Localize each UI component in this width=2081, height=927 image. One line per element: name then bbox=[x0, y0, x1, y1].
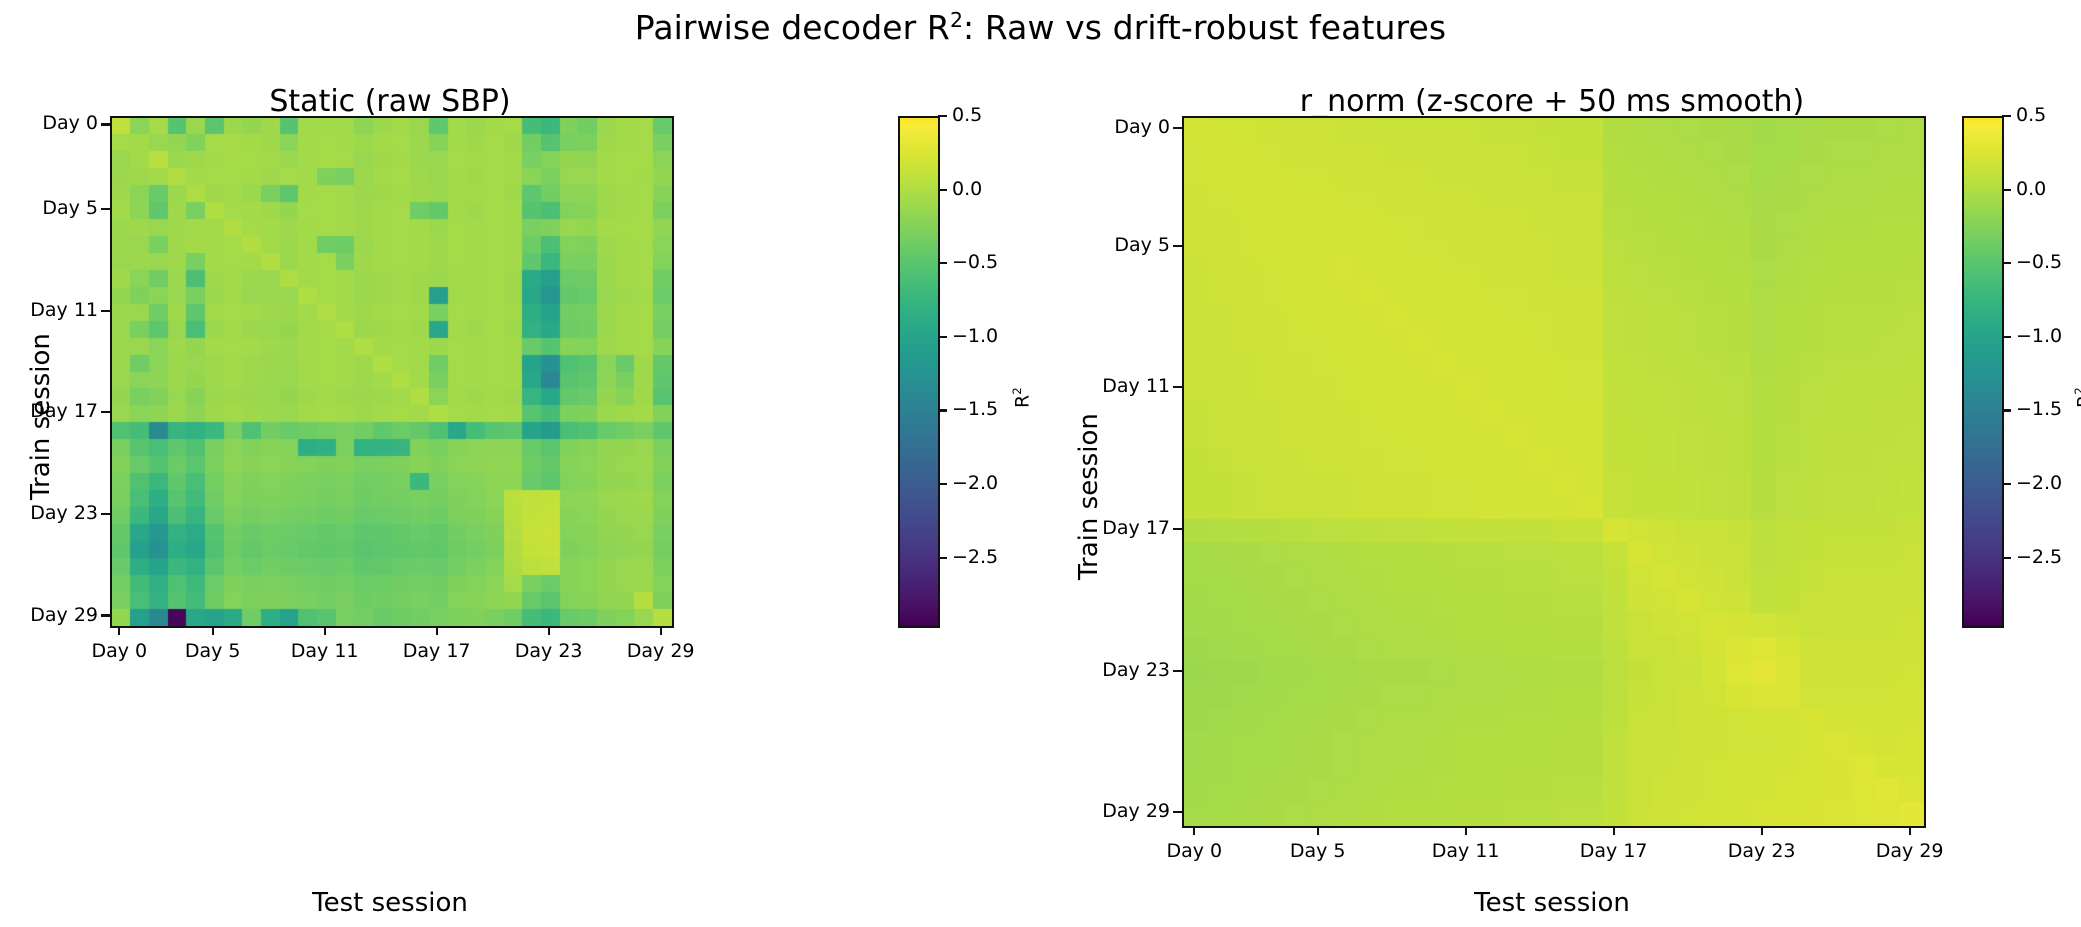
panel-0-heatmap-axes[interactable] bbox=[110, 116, 674, 628]
y-tick-mark bbox=[101, 411, 110, 413]
x-tick-mark bbox=[548, 626, 550, 635]
y-tick-label: Day 5 bbox=[982, 234, 1170, 256]
colorbar-tick-label: 0.0 bbox=[2016, 178, 2081, 200]
panel-1-colorbar-gradient bbox=[1964, 118, 2002, 626]
x-tick-mark bbox=[1193, 826, 1195, 835]
panel-1-heatmap-image bbox=[1184, 118, 1924, 826]
x-tick-mark bbox=[436, 626, 438, 635]
figure-canvas: Pairwise decoder R2: Raw vs drift-robust… bbox=[0, 0, 2081, 927]
y-tick-mark bbox=[1173, 670, 1182, 672]
colorbar-tick-label: −1.0 bbox=[952, 325, 1032, 347]
y-tick-label: Day 11 bbox=[0, 299, 98, 321]
x-tick-label: Day 23 bbox=[1692, 840, 1832, 862]
x-tick-mark bbox=[660, 626, 662, 635]
colorbar-tick-mark bbox=[2002, 557, 2011, 559]
x-tick-mark bbox=[1317, 826, 1319, 835]
x-tick-mark bbox=[324, 626, 326, 635]
colorbar-tick-mark bbox=[2002, 409, 2011, 411]
colorbar-tick-label: −2.0 bbox=[2016, 472, 2081, 494]
colorbar-tick-mark bbox=[938, 557, 947, 559]
x-tick-label: Day 0 bbox=[1124, 840, 1264, 862]
colorbar-tick-label: −2.5 bbox=[2016, 546, 2081, 568]
y-tick-mark bbox=[1173, 811, 1182, 813]
x-tick-label: Day 17 bbox=[1544, 840, 1684, 862]
y-tick-mark bbox=[1173, 386, 1182, 388]
y-tick-label: Day 29 bbox=[982, 800, 1170, 822]
y-tick-mark bbox=[101, 208, 110, 210]
panel-0-ylabel: Train session bbox=[26, 333, 56, 500]
y-tick-label: Day 23 bbox=[982, 659, 1170, 681]
figure-suptitle: Pairwise decoder R2: Raw vs drift-robust… bbox=[0, 8, 2081, 47]
y-tick-mark bbox=[101, 310, 110, 312]
colorbar-tick-mark bbox=[938, 483, 947, 485]
y-tick-label: Day 23 bbox=[0, 502, 98, 524]
y-tick-mark bbox=[1173, 127, 1182, 129]
x-tick-mark bbox=[118, 626, 120, 635]
suptitle-text: Pairwise decoder R bbox=[635, 8, 950, 47]
y-tick-mark bbox=[1173, 245, 1182, 247]
colorbar-tick-mark bbox=[2002, 483, 2011, 485]
colorbar-tick-mark bbox=[938, 336, 947, 338]
colorbar-tick-label: −0.5 bbox=[2016, 251, 2081, 273]
x-tick-label: Day 11 bbox=[1396, 840, 1536, 862]
colorbar-tick-label: −2.5 bbox=[952, 546, 1032, 568]
y-tick-label: Day 0 bbox=[982, 116, 1170, 138]
panel-1-heatmap-axes[interactable] bbox=[1182, 116, 1926, 828]
panel-0-colorbar[interactable] bbox=[898, 116, 940, 628]
x-tick-mark bbox=[1465, 826, 1467, 835]
y-tick-mark bbox=[1173, 528, 1182, 530]
panel-1-title: r_norm (z-score + 50 ms smooth) bbox=[1182, 84, 1922, 119]
x-tick-mark bbox=[1909, 826, 1911, 835]
colorbar-tick-mark bbox=[2002, 336, 2011, 338]
suptitle-rest: : Raw vs drift-robust features bbox=[963, 8, 1446, 47]
colorbar-tick-mark bbox=[938, 115, 947, 117]
colorbar-tick-mark bbox=[938, 409, 947, 411]
x-tick-label: Day 29 bbox=[1840, 840, 1980, 862]
panel-1-colorbar-label: R2 bbox=[2072, 387, 2081, 408]
y-tick-mark bbox=[101, 513, 110, 515]
colorbar-tick-mark bbox=[2002, 189, 2011, 191]
colorbar-tick-mark bbox=[938, 189, 947, 191]
colorbar-tick-mark bbox=[2002, 262, 2011, 264]
panel-1-ylabel: Train session bbox=[1074, 413, 1104, 580]
y-tick-label: Day 0 bbox=[0, 112, 98, 134]
suptitle-superscript: 2 bbox=[950, 8, 963, 32]
panel-1-xlabel: Test session bbox=[1182, 888, 1922, 918]
x-tick-mark bbox=[1761, 826, 1763, 835]
y-tick-label: Day 11 bbox=[982, 375, 1170, 397]
y-tick-mark bbox=[101, 123, 110, 125]
panel-1-colorbar[interactable] bbox=[1962, 116, 2004, 628]
colorbar-tick-label: −1.0 bbox=[2016, 325, 2081, 347]
panel-0-title: Static (raw SBP) bbox=[110, 84, 670, 119]
y-tick-mark bbox=[101, 614, 110, 616]
colorbar-tick-label: 0.5 bbox=[2016, 104, 2081, 126]
x-tick-label: Day 5 bbox=[1248, 840, 1388, 862]
x-tick-mark bbox=[1613, 826, 1615, 835]
y-tick-label: Day 5 bbox=[0, 197, 98, 219]
panel-0-heatmap-image bbox=[112, 118, 672, 626]
colorbar-tick-mark bbox=[938, 262, 947, 264]
colorbar-tick-label: 0.0 bbox=[952, 178, 1032, 200]
colorbar-tick-mark bbox=[2002, 115, 2011, 117]
x-tick-label: Day 29 bbox=[591, 640, 731, 662]
y-tick-label: Day 29 bbox=[0, 604, 98, 626]
panel-0-xlabel: Test session bbox=[110, 888, 670, 918]
colorbar-tick-label: −2.0 bbox=[952, 472, 1032, 494]
x-tick-mark bbox=[212, 626, 214, 635]
panel-0-colorbar-gradient bbox=[900, 118, 938, 626]
